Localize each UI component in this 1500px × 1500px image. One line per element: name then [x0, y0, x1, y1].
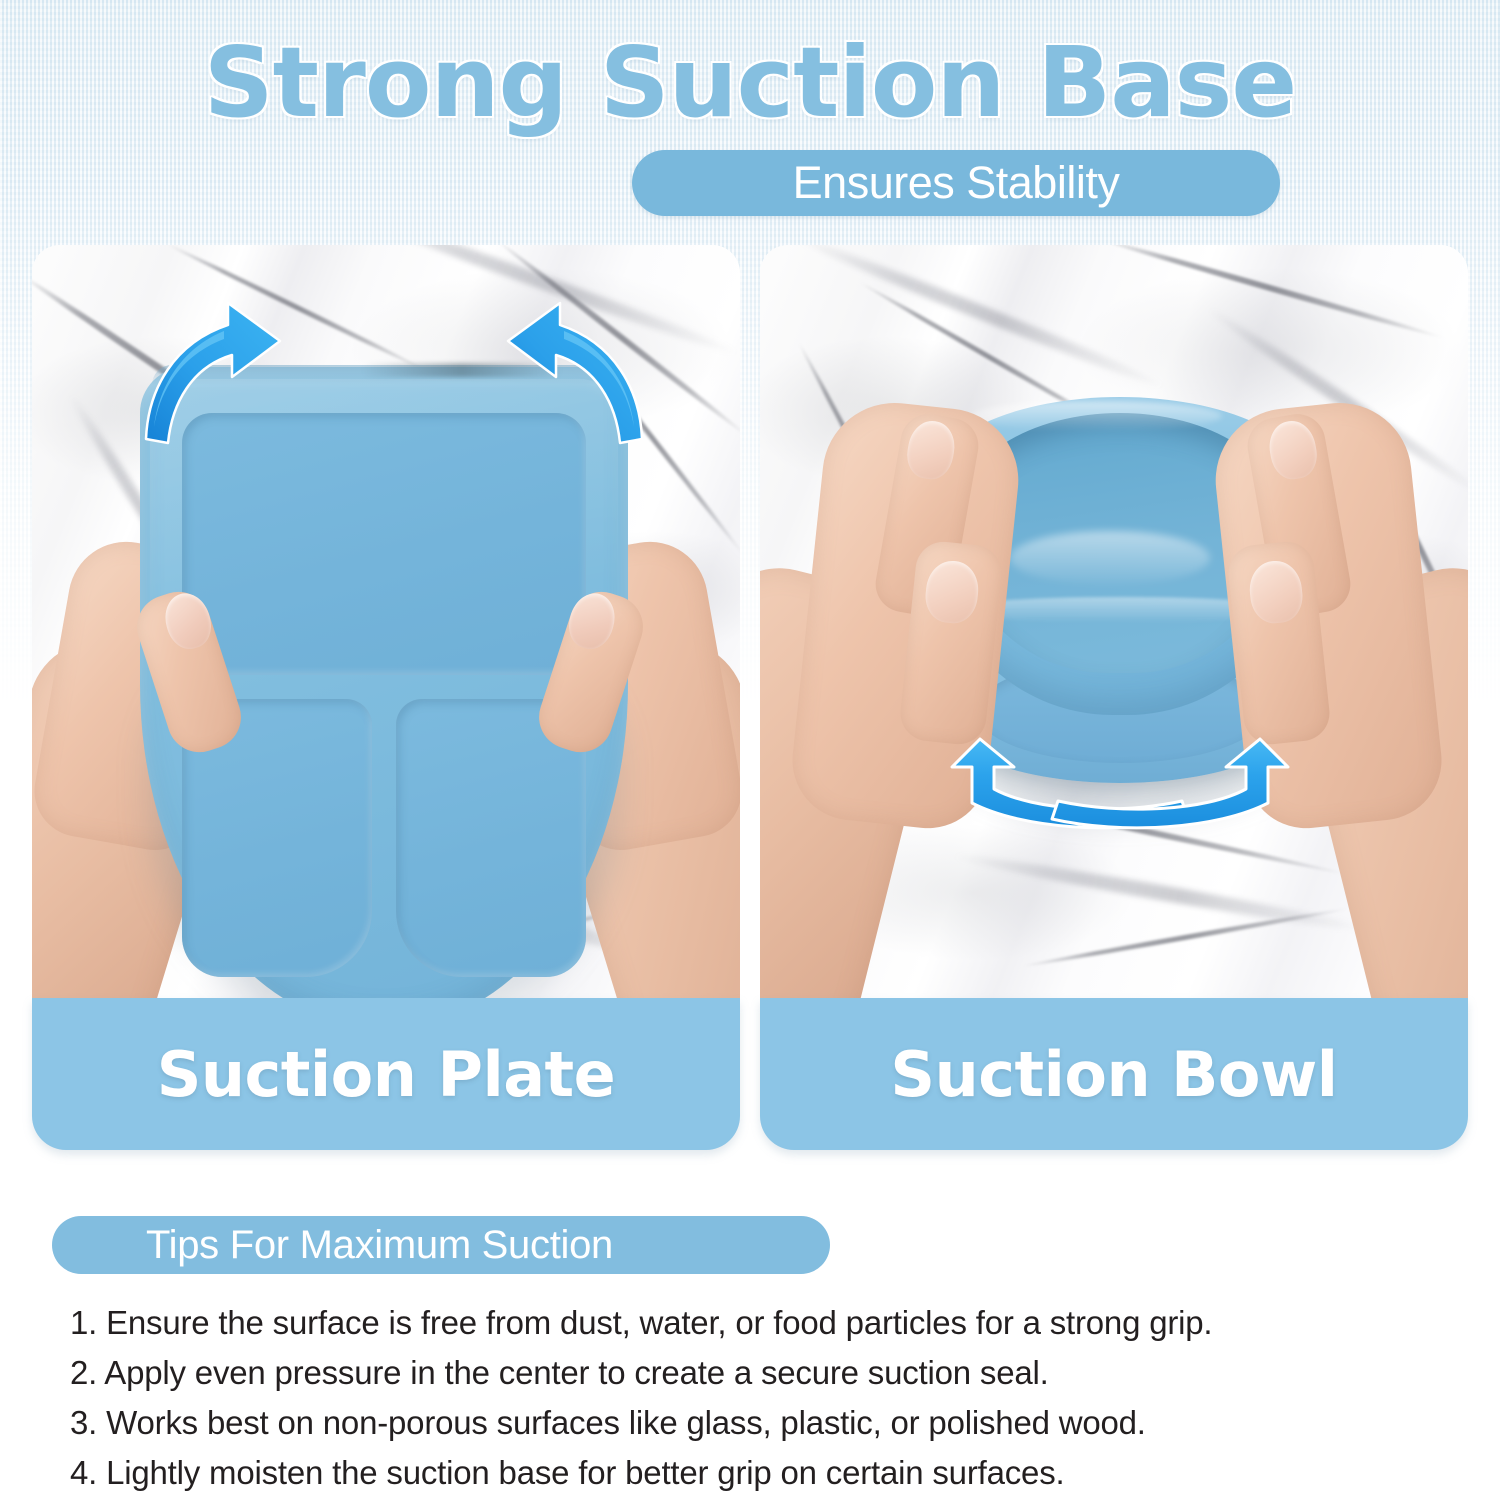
tips-heading-label: Tips For Maximum Suction	[146, 1223, 613, 1268]
page-title: Strong Suction Base	[0, 34, 1500, 131]
arrow-right-icon	[490, 297, 660, 447]
bowl-interior-gloss	[1010, 531, 1210, 585]
subtitle-text: Ensures Stability	[793, 157, 1120, 209]
caption-label: Suction Bowl	[890, 1038, 1337, 1111]
arrow-left-icon	[128, 297, 298, 447]
bowl-rim-highlight	[972, 401, 1222, 431]
tip-item: 2. Apply even pressure in the center to …	[70, 1348, 1450, 1398]
photo-suction-bowl	[760, 245, 1468, 998]
infographic-page: Strong Suction Base Ensures Stability	[0, 0, 1500, 1500]
tip-item: 1. Ensure the surface is free from dust,…	[70, 1298, 1450, 1348]
caption-suction-plate: Suction Plate	[32, 998, 740, 1150]
tips-heading-pill: Tips For Maximum Suction	[52, 1216, 830, 1274]
arrow-suction-up-icon	[938, 643, 1302, 823]
header: Strong Suction Base Ensures Stability	[0, 0, 1500, 230]
caption-label: Suction Plate	[157, 1038, 615, 1111]
tip-item: 3. Works best on non-porous surfaces lik…	[70, 1398, 1450, 1448]
subtitle-pill: Ensures Stability	[632, 150, 1280, 216]
caption-suction-bowl: Suction Bowl	[760, 998, 1468, 1150]
photo-suction-plate	[32, 245, 740, 998]
tip-item: 4. Lightly moisten the suction base for …	[70, 1448, 1450, 1498]
tips-list: 1. Ensure the surface is free from dust,…	[70, 1298, 1450, 1498]
plate-compartment-top	[182, 413, 586, 675]
